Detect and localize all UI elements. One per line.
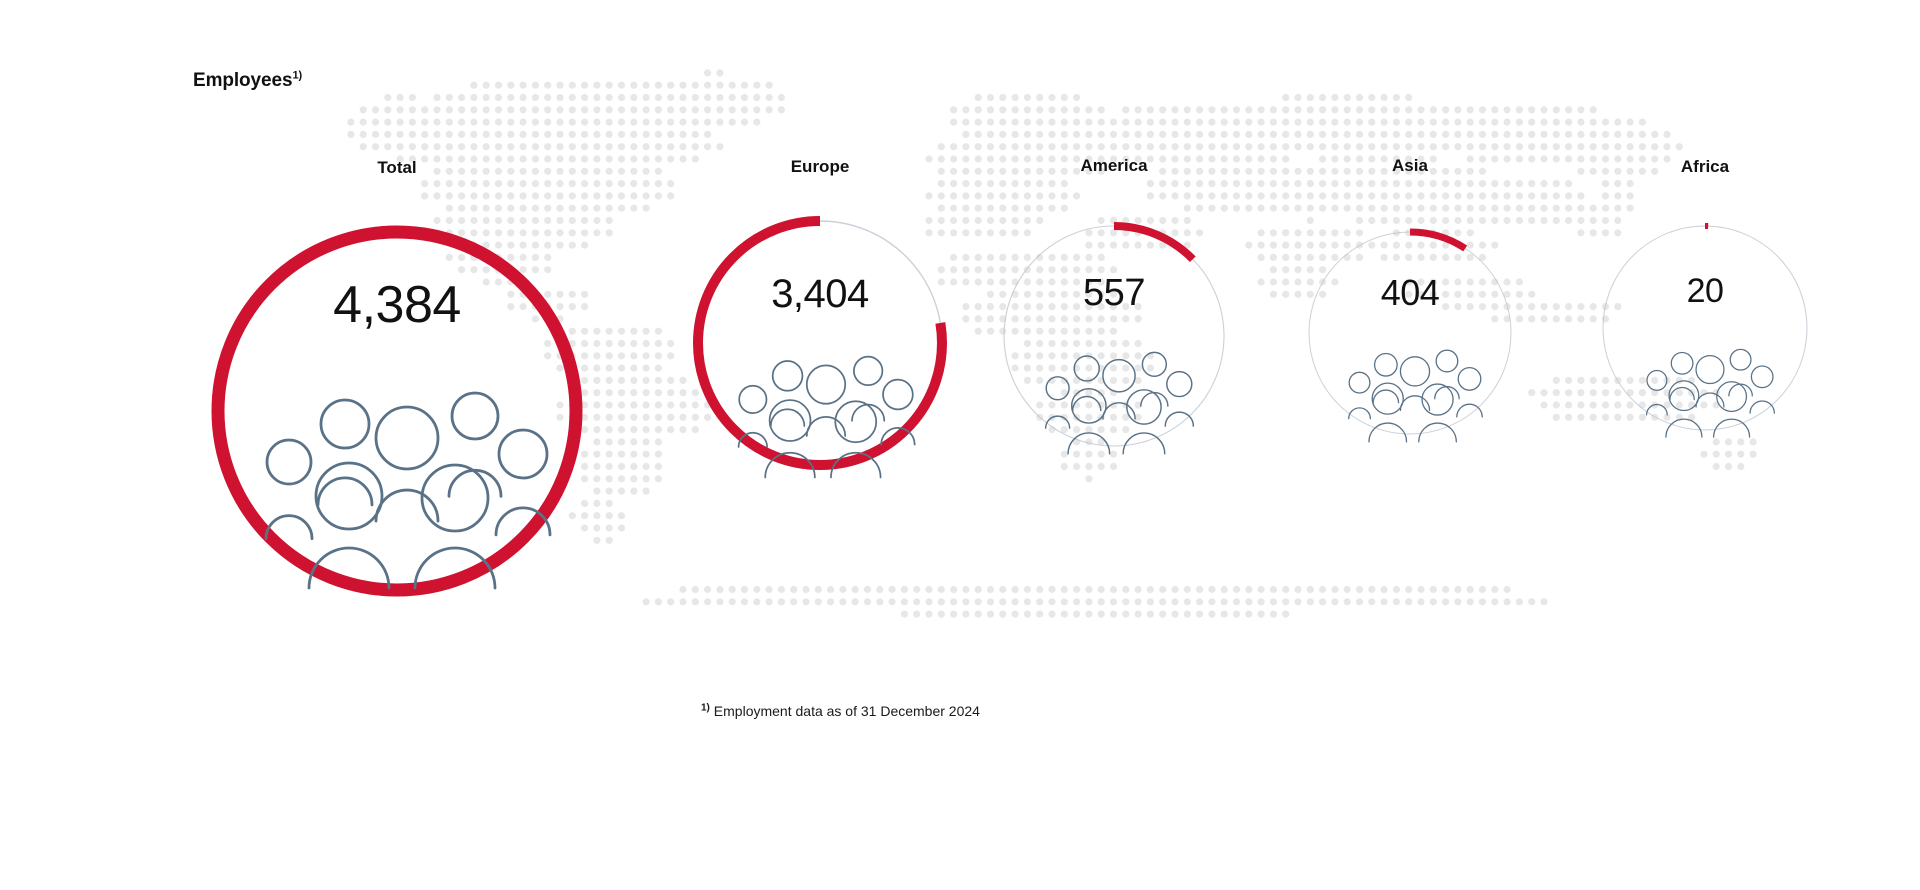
donut-asia[interactable]: Asia404: [1296, 0, 1524, 890]
donut-value-total: 4,384: [199, 275, 595, 335]
donut-label-europe: Europe: [682, 157, 958, 177]
footnote-text: Employment data as of 31 December 2024: [710, 703, 980, 719]
donut-america[interactable]: America557: [990, 0, 1238, 890]
donut-label-america: America: [990, 156, 1238, 176]
donut-label-africa: Africa: [1591, 157, 1819, 177]
donut-total[interactable]: Total4,384: [199, 0, 595, 890]
footnote-marker: 1): [701, 702, 710, 713]
donut-value-asia: 404: [1296, 272, 1524, 314]
footnote: 1) Employment data as of 31 December 202…: [701, 703, 980, 719]
people-group-icon: [207, 350, 587, 640]
donut-value-america: 557: [990, 272, 1238, 315]
infographic-canvas: Employees1) Total4,384Europe3,404America…: [0, 0, 1920, 890]
donut-value-europe: 3,404: [682, 272, 958, 317]
donut-value-africa: 20: [1591, 272, 1819, 311]
people-group-icon: [1321, 330, 1500, 466]
donut-label-asia: Asia: [1296, 156, 1524, 176]
people-group-icon: [702, 330, 938, 510]
donut-africa[interactable]: Africa20: [1591, 0, 1819, 890]
people-group-icon: [1620, 330, 1791, 461]
donut-label-total: Total: [199, 158, 595, 178]
people-group-icon: [1015, 330, 1213, 481]
donut-europe[interactable]: Europe3,404: [682, 0, 958, 890]
